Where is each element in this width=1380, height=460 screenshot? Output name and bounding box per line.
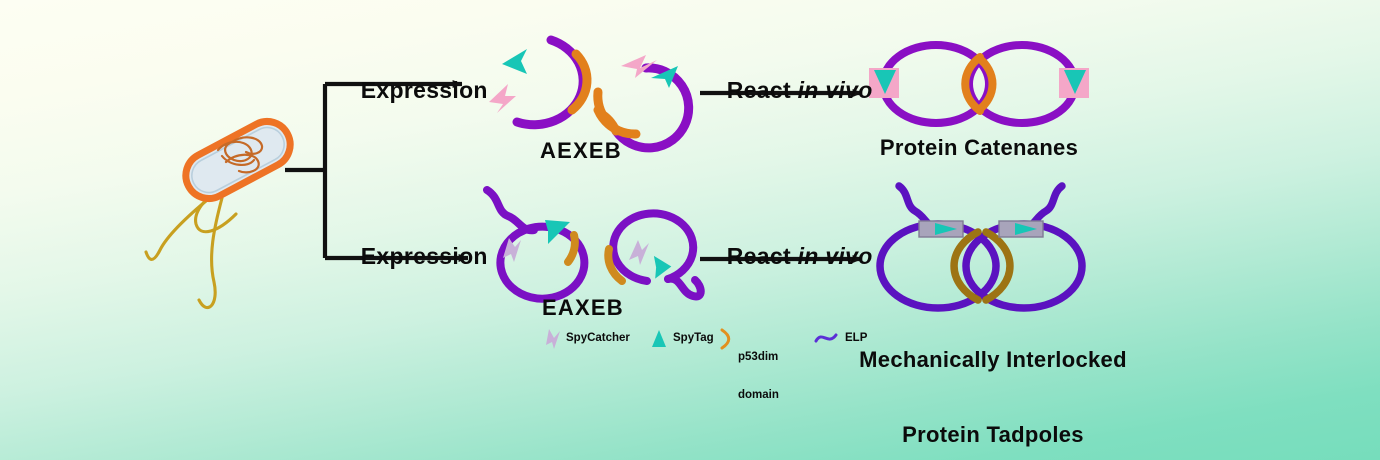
cell-body bbox=[178, 113, 298, 206]
tadpole-label-line2: Protein Tadpoles bbox=[848, 422, 1138, 447]
tadpole-label-line1: Mechanically Interlocked bbox=[848, 347, 1138, 372]
label-expression-bottom: Expression bbox=[334, 216, 488, 297]
legend-label-spycatcher: SpyCatcher bbox=[566, 332, 630, 345]
p53dim-line2: domain bbox=[738, 389, 779, 402]
p53dim-line1: p53dim bbox=[738, 351, 779, 364]
p53dim-arc-c bbox=[598, 110, 636, 134]
bacterium-cell bbox=[146, 113, 298, 307]
tadpole-tail-left bbox=[899, 186, 932, 226]
legend-label-p53dim: p53dim domain bbox=[738, 325, 779, 428]
spycatcher-icon bbox=[546, 329, 560, 349]
protein-catenane bbox=[869, 45, 1089, 123]
figure-canvas: Expression Expression React in vivo Reac… bbox=[0, 0, 1380, 460]
interlocked-tadpoles bbox=[880, 186, 1082, 308]
eaxeb-ring-left bbox=[487, 190, 584, 299]
label-react-in-vivo-top: React in vivo bbox=[700, 50, 873, 131]
spycatcher-glyph bbox=[629, 240, 649, 265]
spytag-icon bbox=[652, 330, 666, 347]
flagellum-3 bbox=[146, 196, 212, 259]
cell-membrane bbox=[178, 113, 298, 206]
label-expression-top: Expression bbox=[334, 50, 488, 131]
eaxeb-ring-right bbox=[608, 213, 705, 297]
ring-backbone bbox=[613, 213, 693, 281]
legend-label-spytag: SpyTag bbox=[673, 332, 714, 345]
flagellum-2 bbox=[199, 198, 222, 308]
elp-tail bbox=[487, 190, 534, 230]
aexeb-ring-right bbox=[598, 55, 689, 148]
label-eaxeb: EAXEB bbox=[542, 295, 624, 321]
label-protein-catenanes: Protein Catenanes bbox=[869, 135, 1089, 161]
label-protein-tadpoles: Mechanically Interlocked Protein Tadpole… bbox=[848, 297, 1138, 460]
legend-label-elp: ELP bbox=[845, 332, 867, 345]
p53dim-icon bbox=[722, 330, 729, 348]
elp-icon bbox=[816, 335, 836, 341]
label-react-in-vivo-bottom: React in vivo bbox=[700, 216, 873, 297]
scheme-illustration bbox=[0, 0, 1380, 460]
label-aexeb: AEXEB bbox=[540, 138, 622, 164]
aexeb-ring-left bbox=[489, 37, 587, 124]
tadpole-tail-right bbox=[1029, 186, 1062, 226]
